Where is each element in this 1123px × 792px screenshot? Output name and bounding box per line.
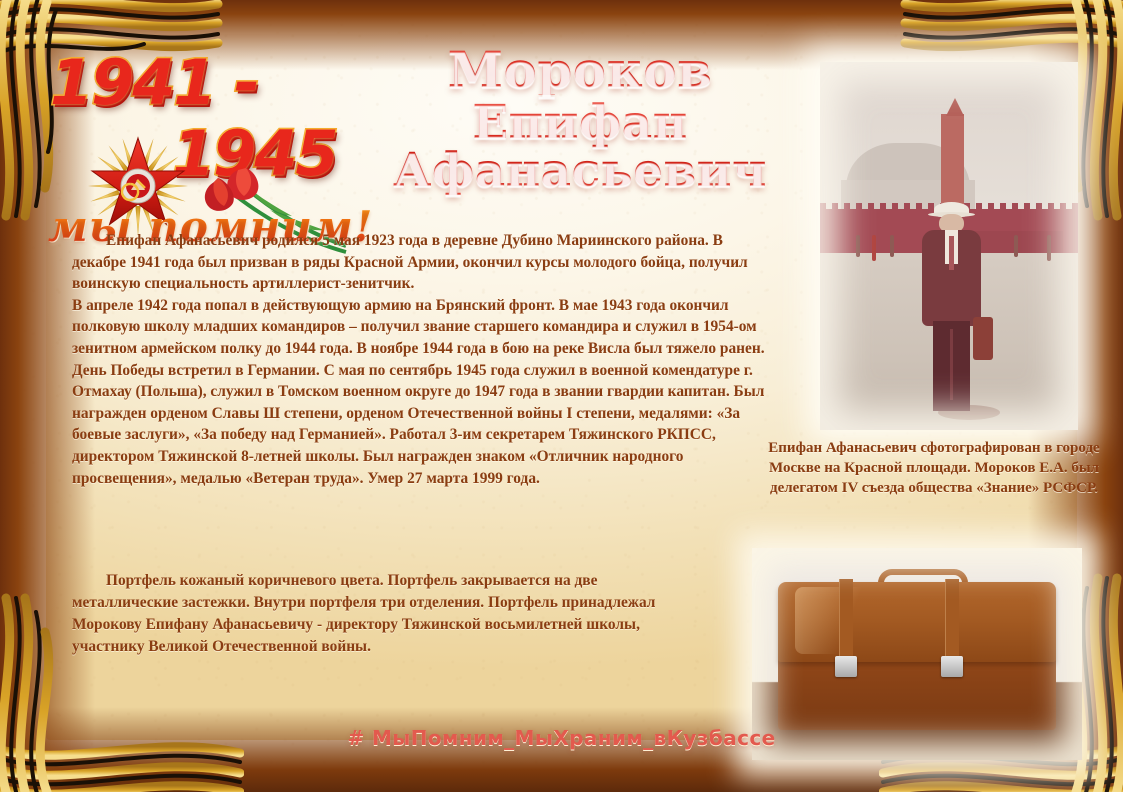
- victory-emblem: 1941 - 1945: [24, 42, 354, 247]
- photo-caption: Епифан Афанасьевич сфотографирован в гор…: [762, 438, 1106, 498]
- page-title: Мороков Епифан Афанасьевич: [330, 44, 830, 195]
- biography-paragraph-2: В апреле 1942 года попал в действующую а…: [72, 295, 772, 489]
- photo-veteran-red-square: [820, 62, 1078, 430]
- memorial-poster: 1941 - 1945: [0, 0, 1123, 792]
- title-surname: Мороков: [330, 44, 830, 95]
- emblem-year-from: 1941 -: [50, 46, 258, 119]
- briefcase-description: Портфель кожаный коричневого цвета. Порт…: [72, 570, 692, 658]
- biography-paragraph-1: Епифан Афанасьевич родился 5 мая 1923 го…: [72, 232, 748, 292]
- photo-vignette: [820, 62, 1078, 430]
- title-given-patronymic: Епифан Афанасьевич: [330, 99, 830, 195]
- hashtag-banner: # МыПомним_МыХраним_вКузбассе: [0, 726, 1123, 750]
- biography-text: Епифан Афанасьевич родился 5 мая 1923 го…: [72, 230, 772, 489]
